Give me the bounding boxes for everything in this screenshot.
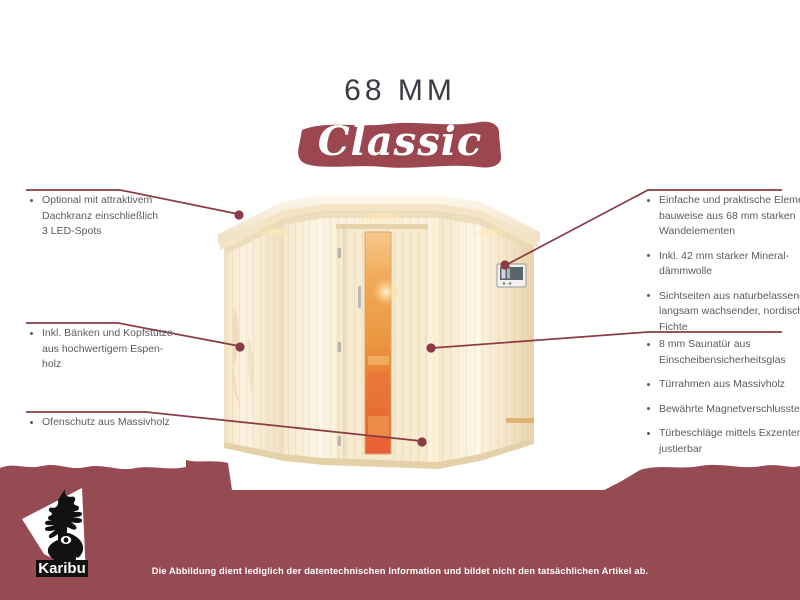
sauna-right-wall [438, 208, 534, 462]
list-item: Inkl. Bänken und Kopfstütze aus hochwert… [28, 326, 208, 373]
logo-brand-text: Karibu [38, 560, 86, 577]
list-item: Türrahmen aus Massivholz [645, 377, 800, 393]
annotation-line: Inkl. 42 mm starker Mineral- [659, 249, 800, 265]
led-spot-left [259, 229, 293, 243]
list-item: 8 mm Saunatür aus Einscheibensicherheits… [645, 337, 800, 368]
annotation-benches-headrest: Inkl. Bänken und Kopfstütze aus hochwert… [28, 326, 208, 373]
annotation-stove-guard: Ofenschutz aus Massivholz [28, 415, 218, 431]
annotation-line: Fichte [659, 320, 800, 336]
annotation-line: 8 mm Saunatür aus [659, 337, 800, 353]
annotation-line: justierbar [659, 442, 800, 458]
list-item: Ofenschutz aus Massivholz [28, 415, 218, 431]
annotation-roof-crown-led: Optional mit attraktivem Dachkranz einsc… [28, 193, 208, 240]
list-item: Sichtseiten aus naturbelassener, langsam… [645, 289, 800, 336]
bullet-icon [647, 383, 650, 386]
bullet-icon [647, 294, 650, 297]
annotation-line: bauweise aus 68 mm starken [659, 209, 800, 225]
led-spot-right [473, 229, 507, 243]
annotation-sauna-door: 8 mm Saunatür aus Einscheibensicherheits… [645, 337, 800, 457]
bullet-icon [30, 199, 33, 202]
deer-eye [61, 536, 71, 544]
annotation-line: Sichtseiten aus naturbelassener, [659, 289, 800, 305]
annotation-line: Wandelementen [659, 224, 800, 240]
product-line-badge: Classic [296, 116, 504, 172]
annotation-line: aus hochwertigem Espen- [42, 342, 208, 358]
bullet-icon [647, 254, 650, 257]
bullet-icon [647, 407, 650, 410]
led-spot-center [357, 213, 405, 231]
list-item: Türbeschläge mittels Exzenter justierbar [645, 426, 800, 457]
annotation-line: langsam wachsender, nordischer [659, 304, 800, 320]
annotation-line: Ofenschutz aus Massivholz [42, 415, 218, 431]
list-item: Bewährte Magnetverschlusstechnik [645, 402, 800, 418]
bullet-icon [647, 432, 650, 435]
sauna-door [336, 224, 428, 462]
sauna-corner-panel [284, 208, 324, 458]
page-title-thickness: 68 MM [0, 74, 800, 108]
annotation-line: Bewährte Magnetverschlusstechnik [659, 402, 800, 418]
product-line-name: Classic [296, 116, 504, 172]
bullet-icon [30, 421, 33, 424]
annotation-line: Einfache und praktische Element- [659, 193, 800, 209]
sauna-control-panel [497, 264, 526, 287]
bench-edge [506, 418, 534, 423]
annotation-line: Inkl. Bänken und Kopfstütze [42, 326, 208, 342]
annotation-line: Einscheibensicherheitsglas [659, 353, 800, 369]
bullet-icon [647, 199, 650, 202]
annotation-wall-elements: Einfache und praktische Element- bauweis… [645, 193, 800, 335]
disclaimer-text: Die Abbildung dient lediglich der datent… [0, 566, 800, 576]
annotation-line: dämmwolle [659, 264, 800, 280]
karibu-logo[interactable]: Karibu [14, 478, 118, 582]
list-item: Inkl. 42 mm starker Mineral- dämmwolle [645, 249, 800, 280]
bullet-icon [647, 343, 650, 346]
annotation-line: 3 LED-Spots [42, 224, 208, 240]
annotation-line: Türbeschläge mittels Exzenter [659, 426, 800, 442]
bullet-icon [30, 332, 33, 335]
annotation-line: Optional mit attraktivem [42, 193, 208, 209]
list-item: Optional mit attraktivem Dachkranz einsc… [28, 193, 208, 240]
annotation-line: holz [42, 357, 208, 373]
annotation-line: Türrahmen aus Massivholz [659, 377, 800, 393]
poster-canvas: Die Abbildung dient lediglich der datent… [0, 0, 800, 600]
annotation-line: Dachkranz einschließlich [42, 209, 208, 225]
list-item: Einfache und praktische Element- bauweis… [645, 193, 800, 240]
